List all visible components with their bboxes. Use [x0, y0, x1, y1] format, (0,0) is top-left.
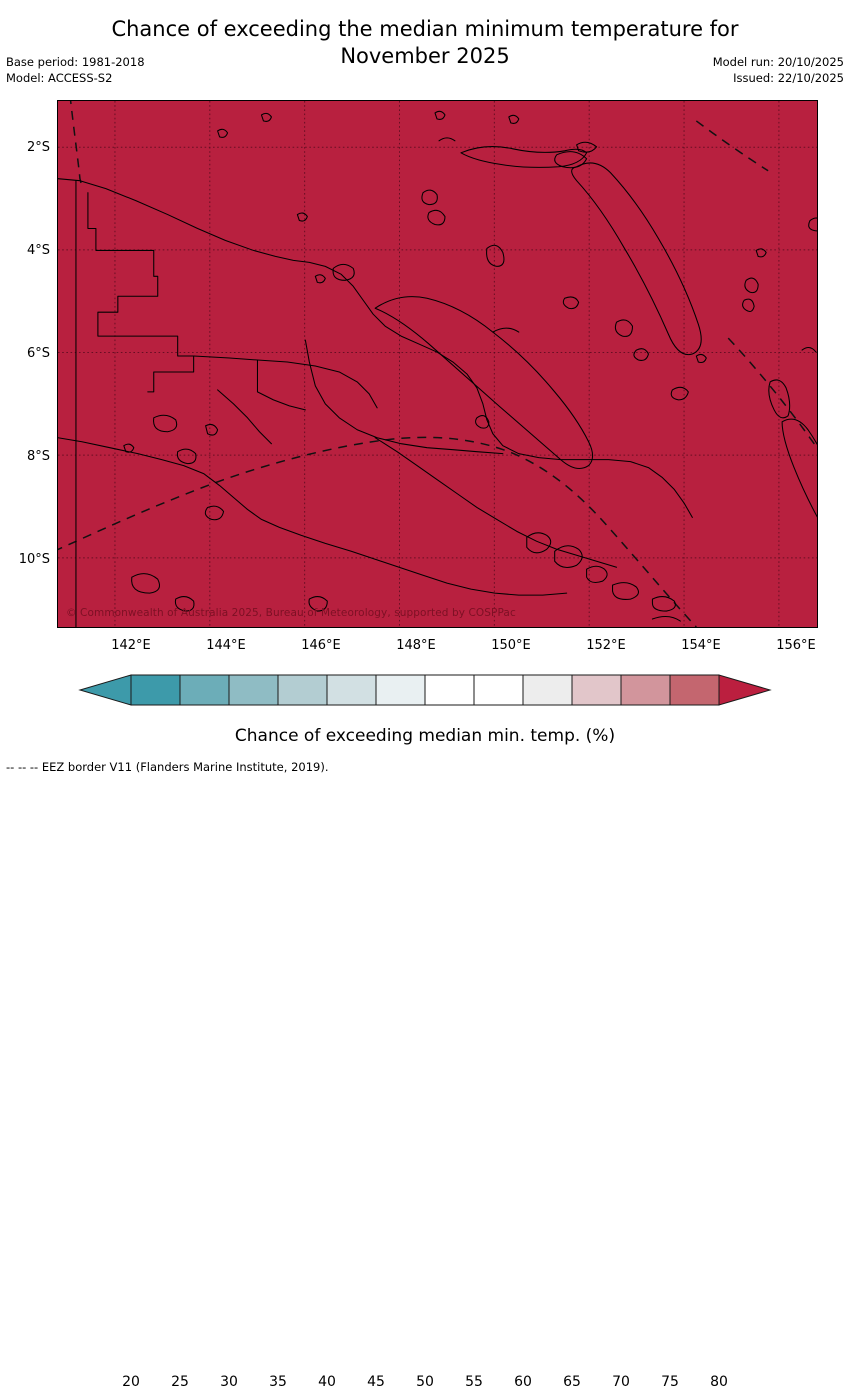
- colorbar-segment: [670, 675, 719, 705]
- colorbar-segment: [523, 675, 572, 705]
- colorbar[interactable]: 20 25 30 35 40 45 50 55 60 65 70 75 80: [0, 672, 850, 710]
- colorbar-over-arrow: [719, 675, 770, 705]
- colorbar-segment: [131, 675, 180, 705]
- colorbar-tick-75: 75: [661, 1374, 679, 1390]
- eez-footnote: -- -- -- EEZ border V11 (Flanders Marine…: [6, 760, 328, 774]
- colorbar-under-arrow: [80, 675, 131, 705]
- colorbar-tick-25: 25: [171, 1374, 189, 1390]
- colorbar-tick-70: 70: [612, 1374, 630, 1390]
- colorbar-segment: [327, 675, 376, 705]
- colorbar-tick-80: 80: [710, 1374, 728, 1390]
- title-line-1: Chance of exceeding the median minimum t…: [111, 17, 738, 41]
- map-credit: © Commonwealth of Australia 2025, Bureau…: [66, 607, 516, 619]
- colorbar-tick-60: 60: [514, 1374, 532, 1390]
- colorbar-tick-50: 50: [416, 1374, 434, 1390]
- colorbar-tick-55: 55: [465, 1374, 483, 1390]
- colorbar-tick-65: 65: [563, 1374, 581, 1390]
- x-tick-144E: 144°E: [206, 638, 246, 653]
- model-run-text: Model run: 20/10/2025: [713, 54, 844, 70]
- header-right-meta: Model run: 20/10/2025 Issued: 22/10/2025: [713, 54, 844, 86]
- colorbar-segment: [180, 675, 229, 705]
- y-tick-4S: 4°S: [0, 243, 50, 258]
- colorbar-canvas: [0, 672, 850, 710]
- model-text: Model: ACCESS-S2: [6, 70, 145, 86]
- coastlines: [58, 111, 817, 627]
- colorbar-tick-35: 35: [269, 1374, 287, 1390]
- y-tick-2S: 2°S: [0, 140, 50, 155]
- eez-border: [58, 101, 817, 627]
- colorbar-tick-45: 45: [367, 1374, 385, 1390]
- x-tick-156E: 156°E: [776, 638, 816, 653]
- y-tick-10S: 10°S: [0, 552, 50, 567]
- colorbar-segment: [229, 675, 278, 705]
- colorbar-title: Chance of exceeding median min. temp. (%…: [0, 726, 850, 746]
- x-tick-148E: 148°E: [396, 638, 436, 653]
- colorbar-tick-20: 20: [122, 1374, 140, 1390]
- y-tick-6S: 6°S: [0, 346, 50, 361]
- y-tick-8S: 8°S: [0, 449, 50, 464]
- colorbar-segment: [376, 675, 425, 705]
- map-canvas: [58, 101, 817, 627]
- colorbar-tick-30: 30: [220, 1374, 238, 1390]
- colorbar-tick-40: 40: [318, 1374, 336, 1390]
- base-period-text: Base period: 1981-2018: [6, 54, 145, 70]
- issued-text: Issued: 22/10/2025: [713, 70, 844, 86]
- colorbar-segment: [572, 675, 621, 705]
- colorbar-segments: [80, 675, 770, 705]
- map-gridlines: [58, 101, 817, 627]
- x-tick-146E: 146°E: [301, 638, 341, 653]
- colorbar-segment: [425, 675, 474, 705]
- x-tick-142E: 142°E: [111, 638, 151, 653]
- x-tick-150E: 150°E: [491, 638, 531, 653]
- map-panel[interactable]: © Commonwealth of Australia 2025, Bureau…: [57, 100, 818, 628]
- header-left-meta: Base period: 1981-2018 Model: ACCESS-S2: [6, 54, 145, 86]
- x-tick-152E: 152°E: [586, 638, 626, 653]
- colorbar-segment: [278, 675, 327, 705]
- colorbar-segment: [621, 675, 670, 705]
- colorbar-segment: [474, 675, 523, 705]
- x-tick-154E: 154°E: [681, 638, 721, 653]
